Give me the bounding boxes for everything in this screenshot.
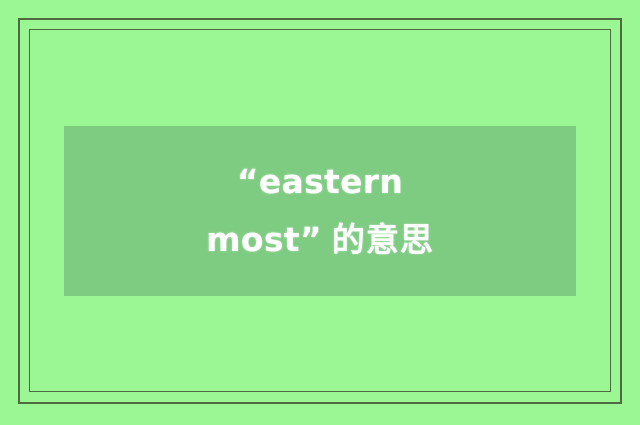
headline-line-one: “eastern	[237, 153, 403, 211]
headline-panel: “eastern most”的意思	[64, 126, 576, 296]
headline-line-two: most”的意思	[206, 211, 434, 269]
headline-latin-run: most”	[206, 220, 322, 259]
headline-cjk-run: 的意思	[332, 220, 434, 259]
page-canvas: “eastern most”的意思	[0, 0, 640, 425]
